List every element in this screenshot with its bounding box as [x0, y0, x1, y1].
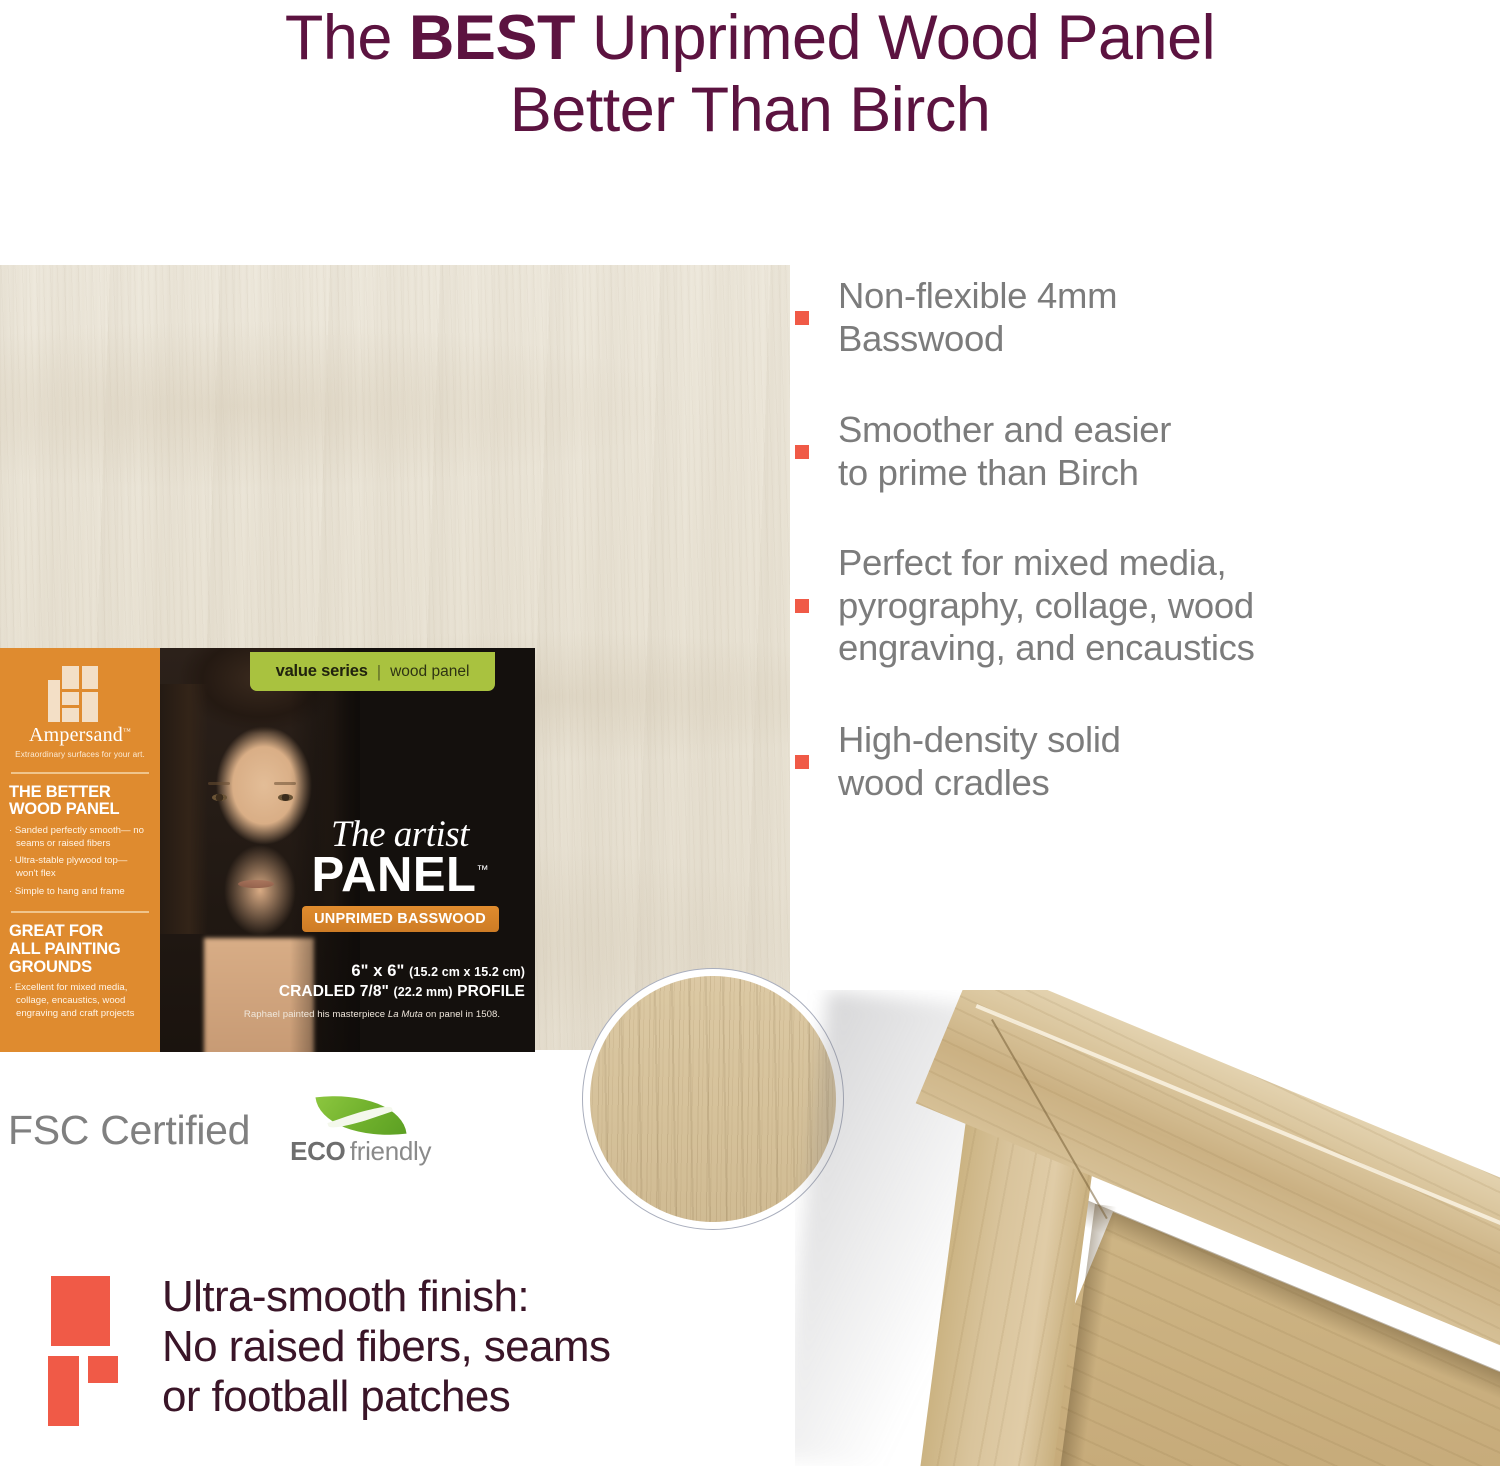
product-size-block: 6" x 6" (15.2 cm x 15.2 cm) CRADLED 7/8"…	[240, 962, 525, 1001]
certification-row: FSC Certified ECO friendly	[8, 1092, 418, 1168]
callout-line-3: or football patches	[162, 1372, 610, 1422]
product-title-main: PANEL™	[312, 851, 489, 899]
brand-trademark-icon: ™	[123, 726, 131, 735]
feature-text: Smoother and easierto prime than Birch	[838, 409, 1171, 494]
feature-text: High-density solidwood cradles	[838, 719, 1121, 804]
package-section-2-heading: GREAT FORALL PAINTINGGROUNDS	[9, 923, 151, 976]
product-package-label: Ampersand™ Extraordinary surfaces for yo…	[0, 648, 535, 1052]
fsc-certified-label: FSC Certified	[8, 1107, 250, 1154]
size-dimensions: 6" x 6" (15.2 cm x 15.2 cm)	[240, 962, 525, 981]
callout-line-1: Ultra-smooth finish:	[162, 1272, 610, 1322]
package-info-panel: Ampersand™ Extraordinary surfaces for yo…	[0, 648, 160, 1052]
panel-trademark-icon: ™	[476, 863, 488, 877]
bullet-square-icon	[795, 445, 809, 459]
package-art-panel: value series | wood panel The artist PAN…	[160, 648, 535, 1052]
package-section-1-bullets: · Sanded perfectly smooth— no seams or r…	[9, 825, 151, 898]
list-item: High-density solidwood cradles	[795, 719, 1485, 804]
divider	[11, 911, 149, 913]
marketing-image: The BEST Unprimed Wood Panel Better Than…	[0, 0, 1500, 1466]
brand-tagline: Extraordinary surfaces for your art.	[9, 750, 151, 759]
eco-label: ECO	[290, 1136, 345, 1166]
package-bullet: · Excellent for mixed media, collage, en…	[9, 982, 151, 1020]
page-title: The BEST Unprimed Wood Panel Better Than…	[0, 4, 1500, 144]
wood-panel-label: wood panel	[390, 663, 469, 681]
feature-text: Non-flexible 4mmBasswood	[838, 275, 1117, 360]
brand-name: Ampersand™	[9, 725, 151, 745]
cradle-corner-photo	[795, 990, 1500, 1466]
list-item: Perfect for mixed media,pyrography, coll…	[795, 542, 1485, 670]
headline-suffix: Unprimed Wood Panel	[575, 3, 1215, 73]
package-bullet: · Simple to hang and frame	[9, 886, 151, 899]
product-title-block: The artist PANEL™ UNPRIMED BASSWOOD	[275, 816, 525, 932]
ampersand-logo-icon	[48, 666, 112, 722]
feature-list: Non-flexible 4mmBasswood Smoother and ea…	[795, 275, 1485, 804]
bullet-square-icon	[795, 599, 809, 613]
squares-accent-icon	[48, 1272, 156, 1444]
package-bullet: · Ultra-stable plywood top— won't flex	[9, 855, 151, 880]
raphael-caption: Raphael painted his masterpiece La Muta …	[217, 1009, 527, 1020]
divider	[11, 772, 149, 774]
friendly-label: friendly	[350, 1136, 431, 1166]
package-bullet: · Sanded perfectly smooth— no seams or r…	[9, 825, 151, 850]
callout-line-2: No raised fibers, seams	[162, 1322, 610, 1372]
headline-line-1: The BEST Unprimed Wood Panel	[0, 4, 1500, 72]
headline-emphasis: BEST	[409, 3, 575, 73]
bullet-square-icon	[795, 755, 809, 769]
callout-text: Ultra-smooth finish: No raised fibers, s…	[162, 1272, 610, 1422]
headline-line-2: Better Than Birch	[0, 76, 1500, 144]
value-series-banner: value series | wood panel	[250, 652, 495, 691]
headline-prefix: The	[285, 3, 409, 73]
cradle-profile: CRADLED 7/8" (22.2 mm) PROFILE	[240, 983, 525, 1001]
package-section-1-heading: THE BETTERWOOD PANEL	[9, 784, 151, 820]
package-section-2-bullets: · Excellent for mixed media, collage, en…	[9, 982, 151, 1020]
value-series-label: value series	[276, 662, 368, 681]
bullet-square-icon	[795, 311, 809, 325]
list-item: Smoother and easierto prime than Birch	[795, 409, 1485, 494]
ultra-smooth-callout: Ultra-smooth finish: No raised fibers, s…	[48, 1272, 610, 1444]
unprimed-basswood-pill: UNPRIMED BASSWOOD	[302, 906, 499, 932]
list-item: Non-flexible 4mmBasswood	[795, 275, 1485, 360]
banner-divider: |	[377, 662, 381, 682]
feature-text: Perfect for mixed media,pyrography, coll…	[838, 542, 1255, 670]
eco-friendly-badge: ECO friendly	[290, 1092, 418, 1168]
